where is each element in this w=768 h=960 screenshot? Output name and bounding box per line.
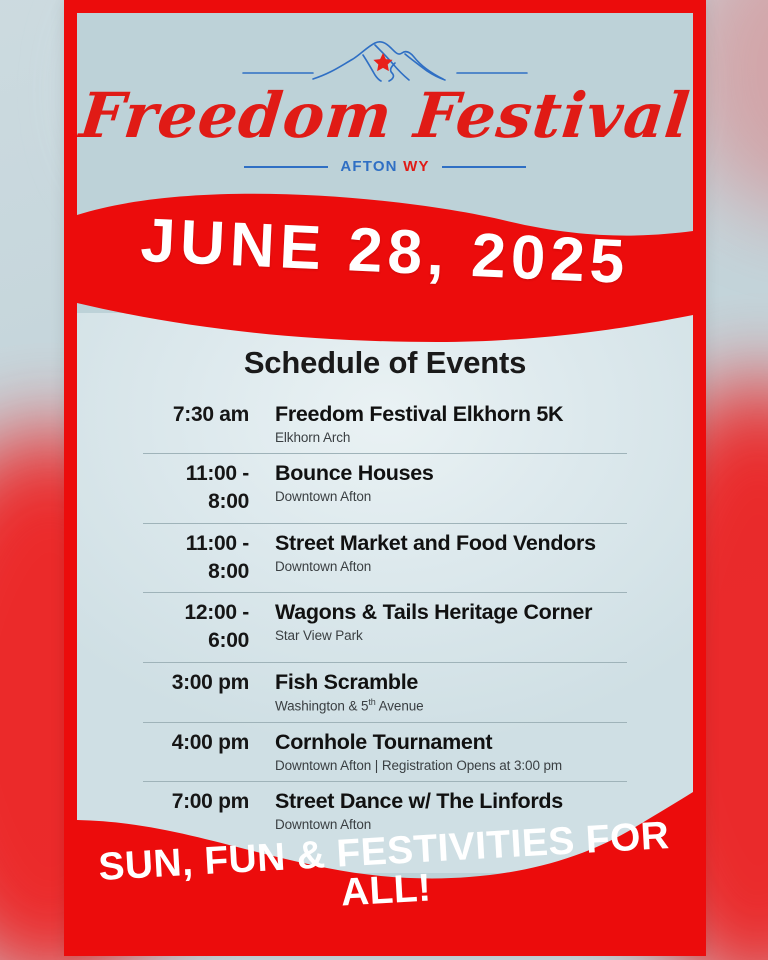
schedule-row-time: 7:30 am (143, 401, 275, 429)
schedule-row-subtitle: Washington & 5th Avenue (275, 697, 627, 715)
schedule-row-title: Fish Scramble (275, 669, 627, 696)
footer-banner: SUN, FUN & FESTIVITIES FOR ALL! (77, 786, 693, 956)
date-banner: JUNE 28, 2025 (77, 193, 693, 353)
schedule-rows: 7:30 amFreedom Festival Elkhorn 5KElkhor… (77, 395, 693, 841)
schedule-row: 4:00 pmCornhole TournamentDowntown Afton… (143, 722, 627, 781)
schedule-row-time: 11:00 - 8:00 (143, 460, 275, 515)
schedule-row-body: Bounce HousesDowntown Afton (275, 460, 627, 505)
schedule-row-body: Street Market and Food VendorsDowntown A… (275, 530, 627, 575)
schedule-row-title: Street Market and Food Vendors (275, 530, 627, 557)
schedule-row-time: 11:00 - 8:00 (143, 530, 275, 585)
location-label: AFTON WY (340, 158, 429, 175)
star-icon (373, 53, 392, 71)
schedule-row-time: 12:00 - 6:00 (143, 599, 275, 654)
schedule-heading: Schedule of Events (77, 345, 693, 381)
location-city: AFTON (340, 158, 397, 175)
location-row: AFTON WY (77, 158, 693, 175)
schedule-row-subtitle: Downtown Afton (275, 558, 627, 576)
rule-left (244, 166, 328, 168)
poster-card: Freedom Festival AFTON WY JUNE 28, 2025 … (77, 13, 693, 956)
schedule-row-subtitle: Downtown Afton (275, 488, 627, 506)
schedule-row-time: 4:00 pm (143, 729, 275, 757)
schedule-row-body: Freedom Festival Elkhorn 5KElkhorn Arch (275, 401, 627, 446)
schedule-row-body: Wagons & Tails Heritage CornerStar View … (275, 599, 627, 644)
poster-red-frame: Freedom Festival AFTON WY JUNE 28, 2025 … (64, 0, 706, 956)
schedule-row-title: Cornhole Tournament (275, 729, 627, 756)
schedule-row: 7:30 amFreedom Festival Elkhorn 5KElkhor… (143, 395, 627, 453)
schedule-row-subtitle: Star View Park (275, 627, 627, 645)
schedule-row: 11:00 - 8:00Street Market and Food Vendo… (143, 523, 627, 592)
page-title: Freedom Festival (77, 85, 693, 147)
schedule-row: 11:00 - 8:00Bounce HousesDowntown Afton (143, 453, 627, 522)
schedule-row-body: Cornhole TournamentDowntown Afton | Regi… (275, 729, 627, 774)
schedule-row-title: Wagons & Tails Heritage Corner (275, 599, 627, 626)
schedule-row-body: Fish ScrambleWashington & 5th Avenue (275, 669, 627, 715)
schedule-row-time: 3:00 pm (143, 669, 275, 697)
rule-right (442, 166, 526, 168)
location-state: WY (403, 158, 430, 175)
schedule-row: 3:00 pmFish ScrambleWashington & 5th Ave… (143, 662, 627, 722)
schedule-row-subtitle: Elkhorn Arch (275, 429, 627, 447)
schedule-row-title: Freedom Festival Elkhorn 5K (275, 401, 627, 428)
schedule-section: Schedule of Events 7:30 amFreedom Festiv… (77, 345, 693, 841)
schedule-row: 12:00 - 6:00Wagons & Tails Heritage Corn… (143, 592, 627, 661)
schedule-row-title: Bounce Houses (275, 460, 627, 487)
schedule-row-subtitle: Downtown Afton | Registration Opens at 3… (275, 757, 627, 775)
